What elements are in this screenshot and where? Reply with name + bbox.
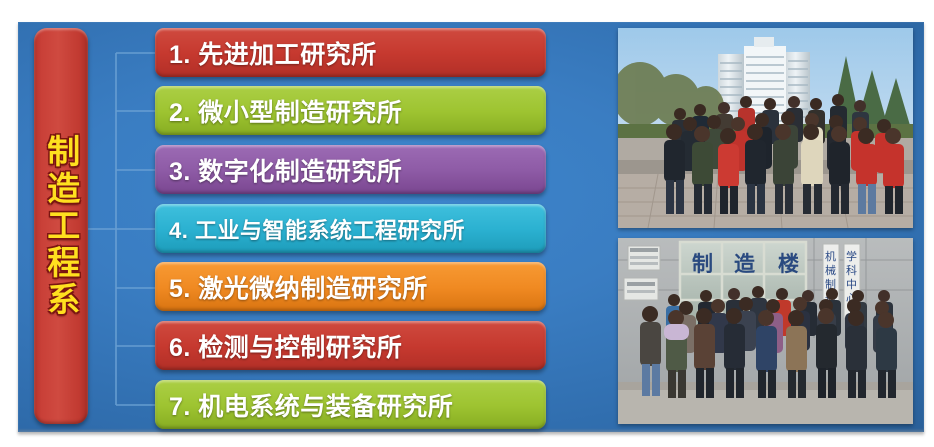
svg-text:造: 造 — [734, 252, 756, 276]
institute-item-6[interactable]: 6. 检测与控制研究所 — [155, 321, 546, 370]
institute-item-3[interactable]: 3. 数字化制造研究所 — [155, 145, 546, 194]
institute-label-6: 6. 检测与控制研究所 — [169, 328, 402, 364]
institute-label-7: 7. 机电系统与装备研究所 — [169, 387, 453, 423]
institute-item-1[interactable]: 1. 先进加工研究所 — [155, 28, 546, 77]
photo-group-outdoor — [618, 28, 913, 228]
institute-label-4: 4. 工业与智能系统工程研究所 — [169, 213, 465, 245]
svg-text:械: 械 — [825, 263, 836, 277]
svg-text:学: 学 — [846, 249, 857, 263]
slide-canvas: 制造工程系 1. 先进加工研究所 2. 微小型制造研究所 3. 数字化制造研究所… — [0, 0, 934, 447]
institute-item-2[interactable]: 2. 微小型制造研究所 — [155, 86, 546, 135]
panel-drop-shadow — [18, 430, 924, 437]
svg-text:中: 中 — [846, 278, 857, 291]
institute-label-1: 1. 先进加工研究所 — [169, 35, 377, 71]
department-bar[interactable]: 制造工程系 — [34, 28, 88, 424]
svg-text:制: 制 — [692, 252, 713, 276]
institute-label-2: 2. 微小型制造研究所 — [169, 93, 402, 129]
institute-item-5[interactable]: 5. 激光微纳制造研究所 — [155, 262, 546, 311]
institute-item-7[interactable]: 7. 机电系统与装备研究所 — [155, 380, 546, 429]
department-label: 制造工程系 — [38, 134, 84, 319]
photo-group-building: 制 造 楼 机械 制造 学科 — [618, 238, 913, 424]
svg-text:楼: 楼 — [778, 252, 799, 276]
svg-text:科: 科 — [846, 263, 857, 277]
institute-label-3: 3. 数字化制造研究所 — [169, 152, 402, 188]
institute-item-4[interactable]: 4. 工业与智能系统工程研究所 — [155, 204, 546, 253]
institute-list: 1. 先进加工研究所 2. 微小型制造研究所 3. 数字化制造研究所 4. 工业… — [155, 28, 546, 424]
institute-label-5: 5. 激光微纳制造研究所 — [169, 269, 428, 305]
svg-text:机: 机 — [825, 249, 836, 263]
